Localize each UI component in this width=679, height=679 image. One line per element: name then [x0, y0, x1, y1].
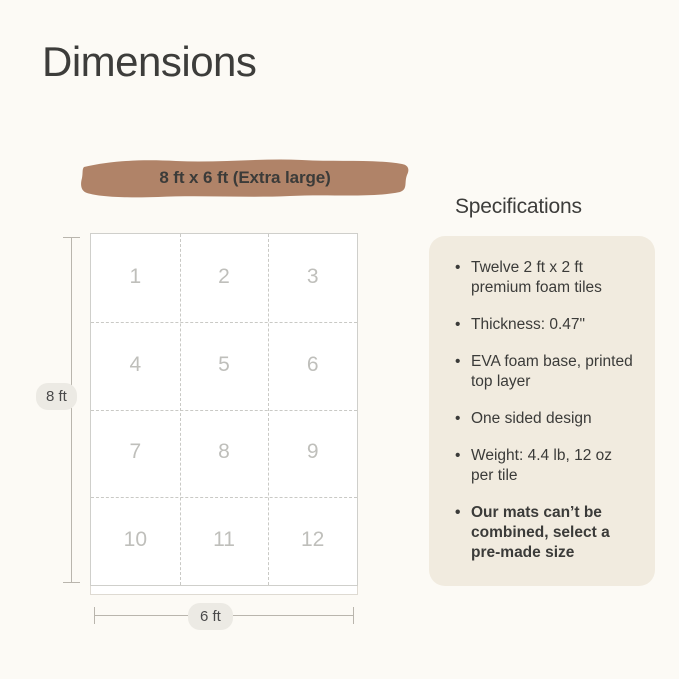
tile-1: 1	[91, 234, 180, 322]
tile-number: 8	[218, 440, 230, 464]
bullet-icon: •	[455, 409, 460, 429]
bullet-icon: •	[455, 315, 460, 335]
list-item: •Twelve 2 ft x 2 ft premium foam tiles	[455, 258, 635, 298]
page-title: Dimensions	[42, 38, 256, 86]
list-item-label: One sided design	[471, 410, 592, 427]
tile-number: 7	[129, 440, 141, 464]
table-row: 7 8 9	[91, 410, 357, 498]
bullet-icon: •	[455, 446, 460, 466]
tile-number: 1	[129, 265, 141, 289]
tile-seam-horizontal	[91, 322, 357, 323]
list-item: •Thickness: 0.47"	[455, 315, 635, 335]
height-label: 8 ft	[36, 383, 77, 410]
specifications-card: •Twelve 2 ft x 2 ft premium foam tiles •…	[429, 236, 655, 586]
list-item-label: EVA foam base, printed top layer	[471, 353, 633, 390]
height-measure-line	[71, 237, 72, 582]
list-item: •EVA foam base, printed top layer	[455, 352, 635, 392]
table-row: 4 5 6	[91, 322, 357, 410]
width-measure-cap-right	[353, 607, 354, 624]
specifications-list: •Twelve 2 ft x 2 ft premium foam tiles •…	[455, 258, 635, 563]
tile-number: 12	[301, 528, 324, 552]
tile-number: 10	[124, 528, 147, 552]
width-measure-cap-left	[94, 607, 95, 624]
tile-seam-horizontal	[91, 497, 357, 498]
tile-8: 8	[180, 410, 269, 498]
size-banner-label: 8 ft x 6 ft (Extra large)	[80, 157, 410, 199]
tile-11: 11	[180, 497, 269, 585]
list-item: •Weight: 4.4 lb, 12 oz per tile	[455, 446, 635, 486]
tile-grid: 1 2 3 4 5 6 7 8 9 10 11 12	[90, 233, 358, 586]
width-label: 6 ft	[188, 603, 233, 630]
tile-4: 4	[91, 322, 180, 410]
bullet-icon: •	[455, 352, 460, 372]
height-measure-cap-bottom	[63, 582, 80, 583]
tile-12: 12	[268, 497, 357, 585]
tile-10: 10	[91, 497, 180, 585]
tile-6: 6	[268, 322, 357, 410]
list-item-label: Twelve 2 ft x 2 ft premium foam tiles	[471, 259, 602, 296]
tile-number: 3	[307, 265, 319, 289]
table-row: 1 2 3	[91, 234, 357, 322]
table-row: 10 11 12	[91, 497, 357, 585]
tile-3: 3	[268, 234, 357, 322]
list-item-label: Thickness: 0.47"	[471, 316, 585, 333]
tile-2: 2	[180, 234, 269, 322]
tile-seam-horizontal	[91, 410, 357, 411]
tile-number: 4	[129, 353, 141, 377]
tile-9: 9	[268, 410, 357, 498]
height-measure-cap-top	[63, 237, 80, 238]
tile-number: 6	[307, 353, 319, 377]
bullet-icon: •	[455, 503, 460, 523]
tile-number: 5	[218, 353, 230, 377]
specifications-title: Specifications	[455, 195, 582, 219]
tile-number: 2	[218, 265, 230, 289]
list-item: •One sided design	[455, 409, 635, 429]
mat-diagram: 8 ft 1 2 3 4 5 6 7 8 9 10 11 12	[42, 233, 382, 623]
list-item: •Our mats can’t be combined, select a pr…	[455, 503, 635, 563]
tile-number: 11	[213, 528, 235, 552]
tile-7: 7	[91, 410, 180, 498]
width-measure: 6 ft	[90, 601, 358, 631]
tile-5: 5	[180, 322, 269, 410]
bullet-icon: •	[455, 258, 460, 278]
size-banner: 8 ft x 6 ft (Extra large)	[80, 157, 410, 199]
tile-number: 9	[307, 440, 319, 464]
list-item-label: Our mats can’t be combined, select a pre…	[471, 504, 610, 561]
mat-base-edge	[90, 586, 358, 595]
list-item-label: Weight: 4.4 lb, 12 oz per tile	[471, 447, 612, 484]
